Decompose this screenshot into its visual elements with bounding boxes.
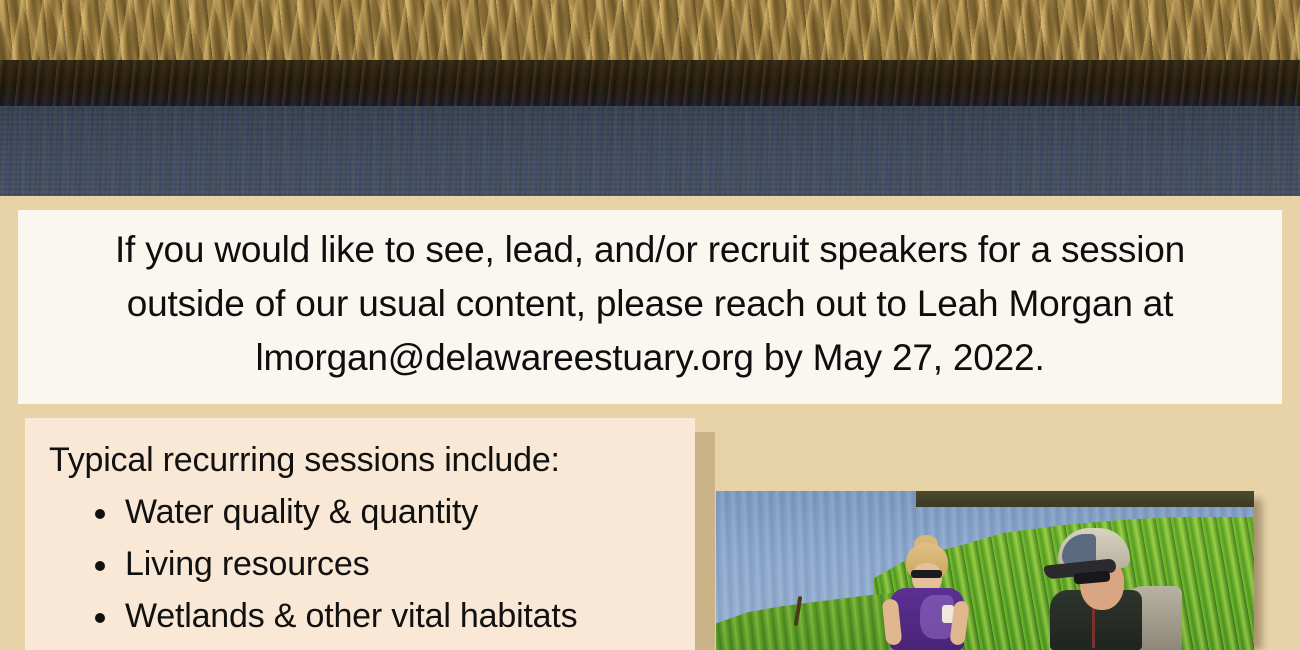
photo-person-woman <box>884 543 970 650</box>
list-item: Wetlands & other vital habitats <box>95 590 695 642</box>
photo-person-man <box>1032 528 1182 650</box>
announcement-card: If you would like to see, lead, and/or r… <box>18 210 1282 404</box>
fieldwork-photo <box>716 491 1254 650</box>
sunglasses-icon <box>911 570 942 578</box>
announcement-line-2: outside of our usual content, please rea… <box>127 277 1174 331</box>
photo-far-bank-layer <box>916 491 1254 507</box>
sessions-list: Water quality & quantity Living resource… <box>39 486 695 642</box>
banner-water-layer <box>0 92 1300 196</box>
announcement-line-1: If you would like to see, lead, and/or r… <box>115 223 1185 277</box>
list-item: Living resources <box>95 538 695 590</box>
announcement-line-3: lmorgan@delawareestuary.org by May 27, 2… <box>255 331 1044 385</box>
header-banner-image <box>0 0 1300 196</box>
sessions-panel: Typical recurring sessions include: Wate… <box>25 418 695 650</box>
list-item: Water quality & quantity <box>95 486 695 538</box>
banner-bank-layer <box>0 60 1300 106</box>
sessions-heading: Typical recurring sessions include: <box>49 440 695 480</box>
